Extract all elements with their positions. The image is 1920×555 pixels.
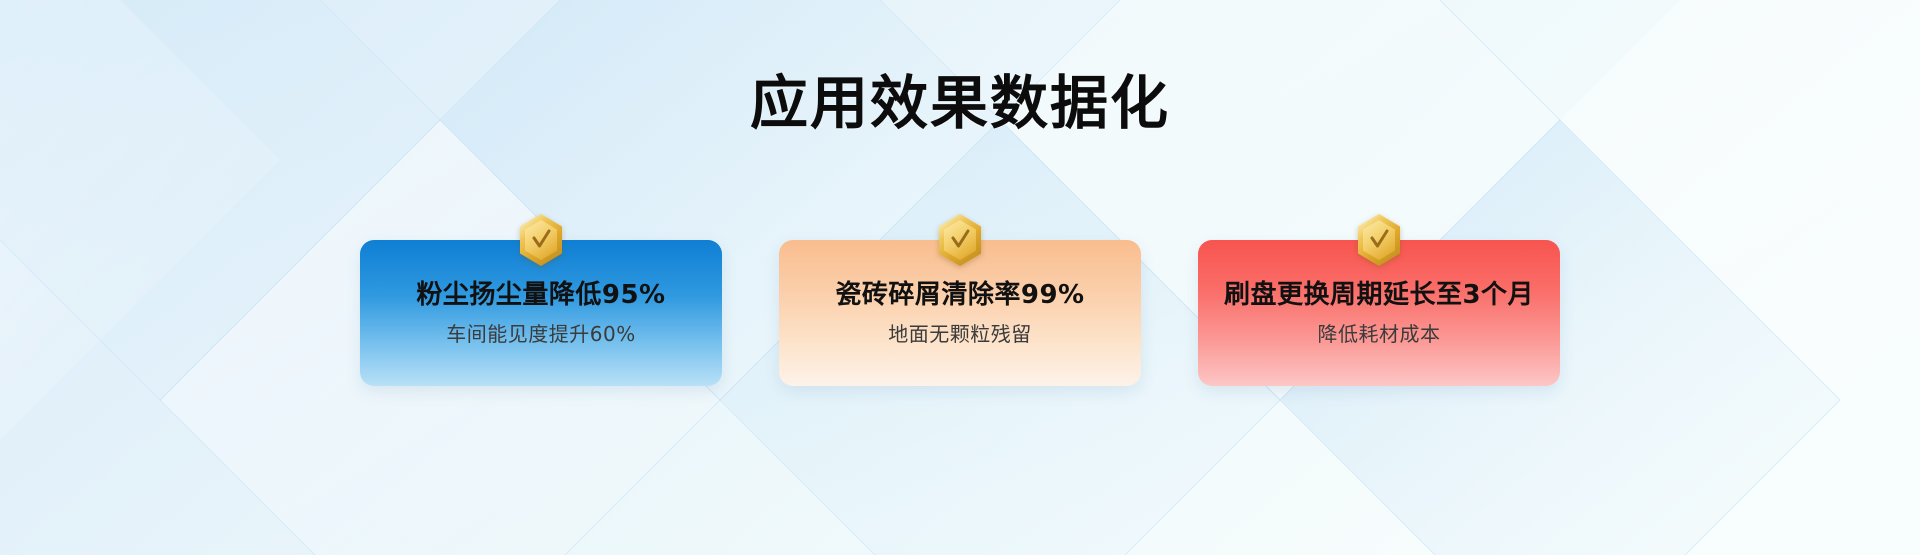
metric-card-subtitle: 降低耗材成本 [1318, 322, 1441, 346]
page-title: 应用效果数据化 [750, 70, 1170, 137]
gold-hexagon-check-badge-icon [936, 213, 984, 267]
metric-card-subtitle: 车间能见度提升60% [446, 322, 635, 346]
metric-card-title: 刷盘更换周期延长至3个月 [1224, 280, 1534, 311]
metric-card-tile-debris[interactable]: 瓷砖碎屑清除率99% 地面无颗粒残留 [779, 240, 1141, 386]
metric-cards-row: 粉尘扬尘量降低95% 车间能见度提升60% [360, 240, 1560, 386]
gold-hexagon-check-badge-icon [517, 213, 565, 267]
metric-card-dust[interactable]: 粉尘扬尘量降低95% 车间能见度提升60% [360, 240, 722, 386]
metric-card-subtitle: 地面无颗粒残留 [888, 322, 1032, 346]
metric-card-title: 粉尘扬尘量降低95% [416, 280, 665, 311]
page-title-wrap: 应用效果数据化 [0, 70, 1920, 137]
slide-stage: 应用效果数据化 [0, 0, 1920, 555]
metric-card-title: 瓷砖碎屑清除率99% [835, 280, 1084, 311]
gold-hexagon-check-badge-icon [1355, 213, 1403, 267]
metric-card-brush-disc[interactable]: 刷盘更换周期延长至3个月 降低耗材成本 [1198, 240, 1560, 386]
